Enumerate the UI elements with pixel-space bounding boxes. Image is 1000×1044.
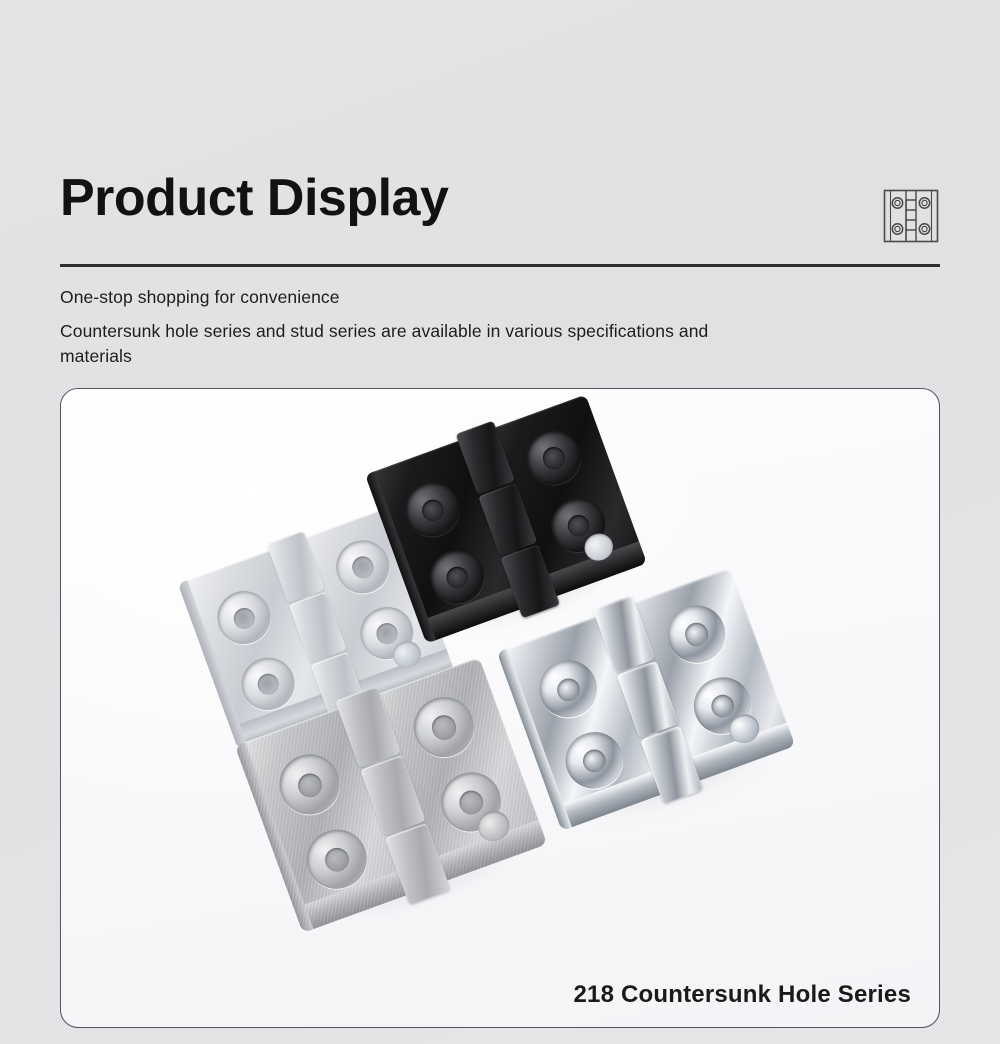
page-title: Product Display: [60, 170, 448, 226]
title-row: Product Display: [60, 170, 940, 244]
header: Product Display: [60, 170, 940, 369]
subtitle-block: One-stop shopping for convenience Counte…: [60, 284, 940, 369]
hinge-line-art-icon: [882, 188, 940, 244]
product-display-page: Product Display: [0, 0, 1000, 1044]
header-divider: [60, 264, 940, 267]
product-image-panel: 218 Countersunk Hole Series: [60, 388, 940, 1028]
subtitle-line-2: Countersunk hole series and stud series …: [60, 319, 710, 369]
subtitle-line-1: One-stop shopping for convenience: [60, 284, 940, 311]
series-caption: 218 Countersunk Hole Series: [573, 981, 911, 1009]
